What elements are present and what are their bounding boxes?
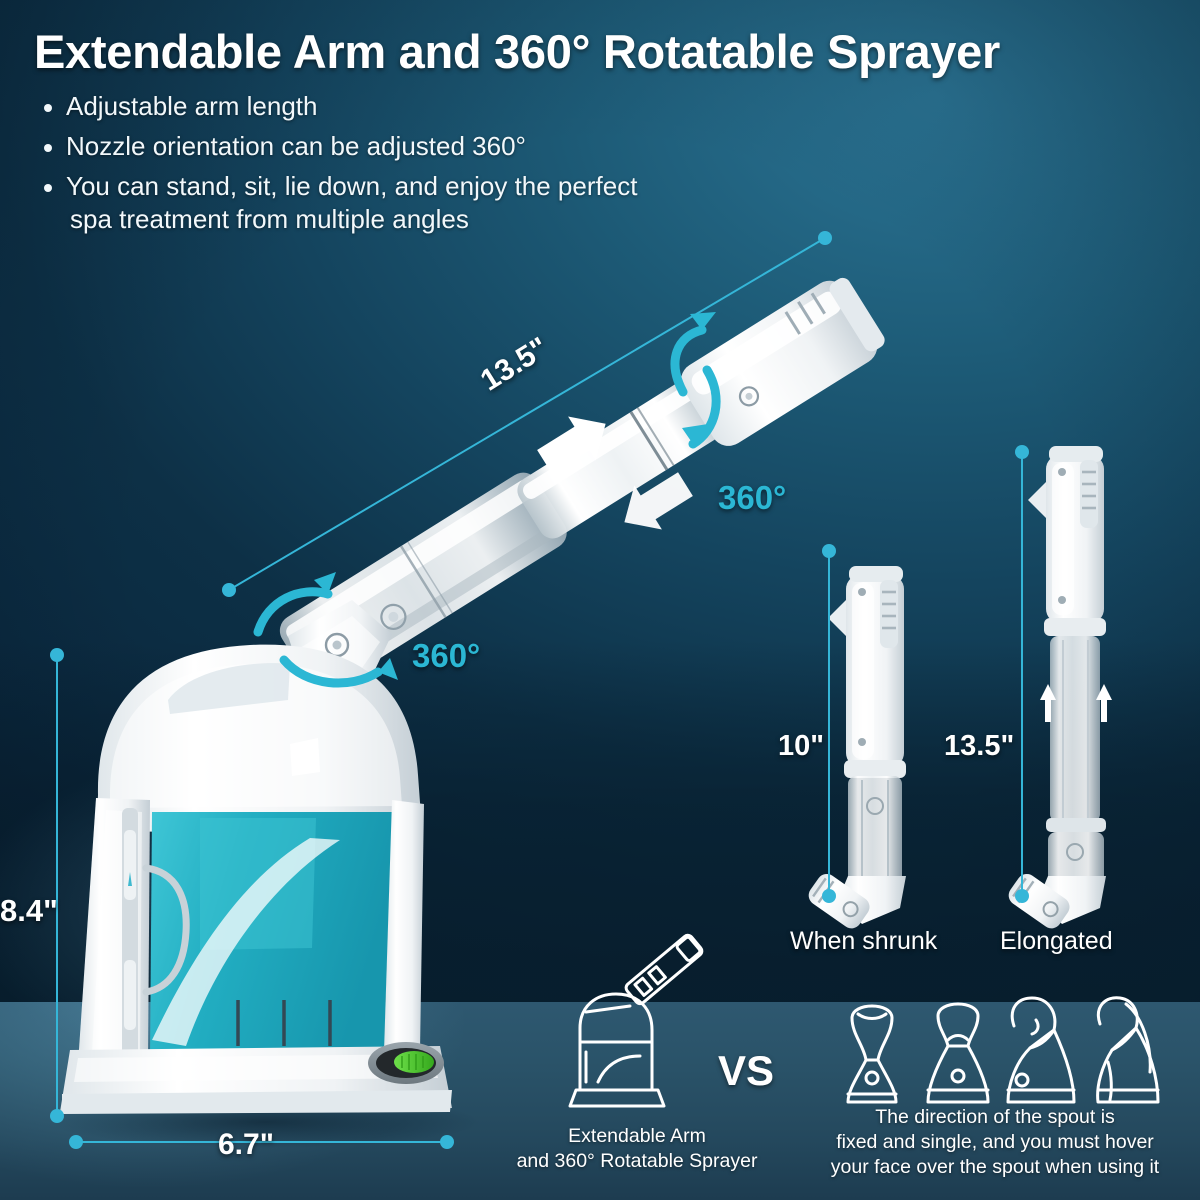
infographic-canvas: Extendable Arm and 360° Rotatable Spraye…	[0, 0, 1200, 1200]
vs-label: VS	[718, 1047, 774, 1095]
footer-caption-right: The direction of the spout is fixed and …	[790, 1105, 1200, 1180]
footer-caption-left: Extendable Arm and 360° Rotatable Spraye…	[512, 1124, 762, 1174]
list-item: Adjustable arm length	[36, 90, 836, 124]
footer-right-line2: fixed and single, and you must hover	[790, 1130, 1200, 1155]
footer-left-line2: and 360° Rotatable Sprayer	[512, 1149, 762, 1174]
feature-bullet-list: Adjustable arm length Nozzle orientation…	[36, 90, 836, 243]
rotation-label-lower: 360°	[412, 637, 480, 675]
dimension-label-height: 8.4"	[0, 893, 58, 929]
bullet-text: Nozzle orientation can be adjusted 360°	[66, 131, 526, 161]
bullet-text: You can stand, sit, lie down, and enjoy …	[66, 171, 637, 201]
bullet-text-line2: spa treatment from multiple angles	[66, 203, 836, 237]
background-left-haze	[0, 700, 520, 1120]
footer-left-line1: Extendable Arm	[512, 1124, 762, 1149]
page-title: Extendable Arm and 360° Rotatable Spraye…	[34, 24, 1174, 79]
dimension-label-elongated: 13.5"	[944, 730, 1014, 763]
rotation-label-upper: 360°	[718, 479, 786, 517]
caption-when-shrunk: When shrunk	[790, 927, 937, 956]
caption-elongated: Elongated	[1000, 927, 1113, 956]
dimension-label-shrunk: 10"	[778, 730, 824, 763]
footer-right-line1: The direction of the spout is	[790, 1105, 1200, 1130]
list-item: You can stand, sit, lie down, and enjoy …	[36, 170, 836, 238]
footer-right-line3: your face over the spout when using it	[790, 1155, 1200, 1180]
list-item: Nozzle orientation can be adjusted 360°	[36, 130, 836, 164]
dimension-label-width: 6.7"	[218, 1128, 274, 1162]
bullet-text: Adjustable arm length	[66, 91, 317, 121]
